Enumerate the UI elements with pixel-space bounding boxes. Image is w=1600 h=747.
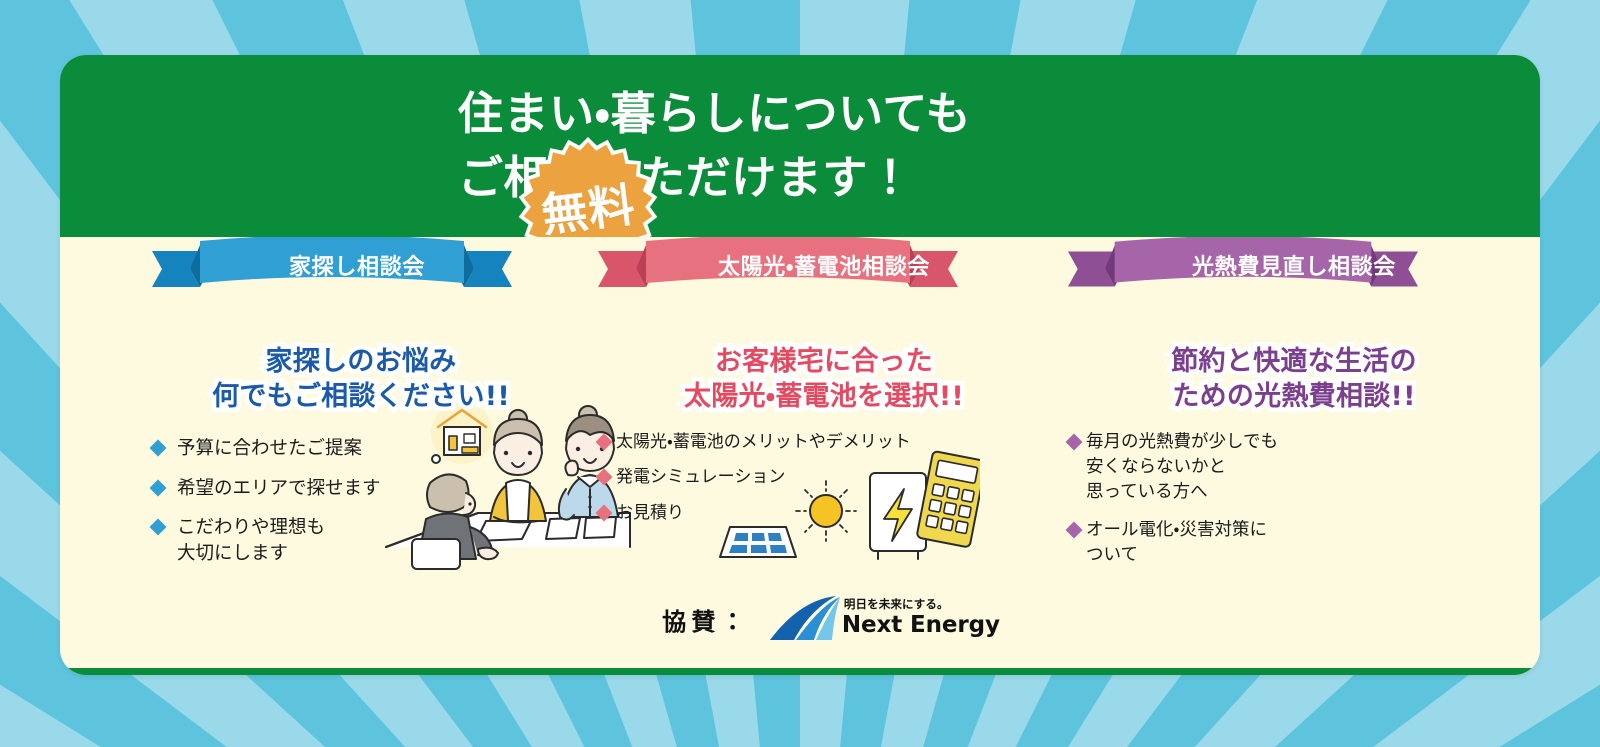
headline-text: 家探しのお悩み 何でもご相談ください!!: [212, 346, 510, 412]
next-energy-logo: 明日を未来にする。 Next Energy: [766, 594, 938, 644]
diamond-bullet-icon: [596, 469, 613, 486]
diamond-bullet-icon: [1066, 521, 1083, 538]
ribbon-label: 家探し相談会: [152, 249, 570, 281]
list-item-label: 希望のエリアで探せます: [177, 476, 381, 502]
column-solar-battery: 太陽光・蓄電池相談会 お客様宅に合った 太陽光・蓄電池を選択!! 太陽光・蓄電池…: [570, 237, 1050, 581]
banner-root: 無料 住まい・暮らしについても ご相談いただけます！: [0, 0, 1600, 747]
sponsor-tagline: 明日を未来にする。: [844, 596, 949, 612]
list-item-label: 予算に合わせたご提案: [177, 436, 362, 462]
ribbon-solar-battery: 太陽光・蓄電池相談会: [598, 237, 1050, 299]
solar-battery-calculator-illustration: [718, 449, 980, 567]
solar-panel-icon: [720, 527, 796, 557]
header-band: 無料 住まい・暮らしについても ご相談いただけます！: [60, 55, 1540, 237]
calculator-icon: [916, 451, 980, 548]
list-item: 毎月の光熱費が少しでも 安くならないかと 思っている方へ: [1068, 430, 1520, 505]
battery-unit-icon: [870, 473, 926, 559]
diamond-bullet-icon: [150, 440, 167, 457]
headline-home-search: 家探しのお悩み 何でもご相談ください!!: [152, 309, 570, 414]
sponsor-label: 協賛：: [662, 602, 750, 637]
list-item-label: オール電化・災害対策に ついて: [1086, 518, 1267, 568]
headline-text: お客様宅に合った 太陽光・蓄電池を選択!!: [684, 346, 964, 412]
ribbon-utility-cost: 光熱費見直し相談会: [1068, 237, 1520, 299]
headline-solar-battery: お客様宅に合った 太陽光・蓄電池を選択!!: [598, 309, 1050, 414]
sponsor-name: Next Energy: [842, 612, 1000, 638]
column-home-search: 家探し相談会 家探しのお悩み 何でもご相談ください!! 予算に合わせたご提案 希…: [60, 237, 570, 581]
sponsor-row: 協賛： 明日を未来にする。 Next Energy: [60, 594, 1540, 644]
diamond-bullet-icon: [596, 434, 613, 451]
diamond-bullet-icon: [150, 518, 167, 535]
ribbon-home-search: 家探し相談会: [152, 237, 570, 299]
headline-text: 節約と快適な生活の ための光熱費相談!!: [1171, 346, 1416, 412]
sun-icon: [796, 481, 856, 541]
diamond-bullet-icon: [150, 479, 167, 496]
list-item-label: 毎月の光熱費が少しでも 安くならないかと 思っている方へ: [1086, 430, 1278, 505]
headline-utility-cost: 節約と快適な生活の ための光熱費相談!!: [1068, 309, 1520, 414]
ribbon-label: 光熱費見直し相談会: [1068, 249, 1520, 281]
main-card: 無料 住まい・暮らしについても ご相談いただけます！: [60, 55, 1540, 675]
column-list: 家探し相談会 家探しのお悩み 何でもご相談ください!! 予算に合わせたご提案 希…: [60, 237, 1540, 581]
list-item: オール電化・災害対策に ついて: [1068, 518, 1520, 568]
diamond-bullet-icon: [1066, 434, 1083, 451]
body-area: 家探し相談会 家探しのお悩み 何でもご相談ください!! 予算に合わせたご提案 希…: [60, 237, 1540, 675]
list-item-label: お見積り: [616, 501, 684, 525]
bullets-utility-cost: 毎月の光熱費が少しでも 安くならないかと 思っている方へ オール電化・災害対策に…: [1068, 430, 1520, 567]
list-item-label: こだわりや理想も 大切にします: [177, 515, 325, 568]
column-utility-cost: 光熱費見直し相談会 節約と快適な生活の ための光熱費相談!! 毎月の光熱費が少し…: [1050, 237, 1520, 581]
ribbon-label: 太陽光・蓄電池相談会: [598, 249, 1050, 281]
diamond-bullet-icon: [596, 504, 613, 521]
